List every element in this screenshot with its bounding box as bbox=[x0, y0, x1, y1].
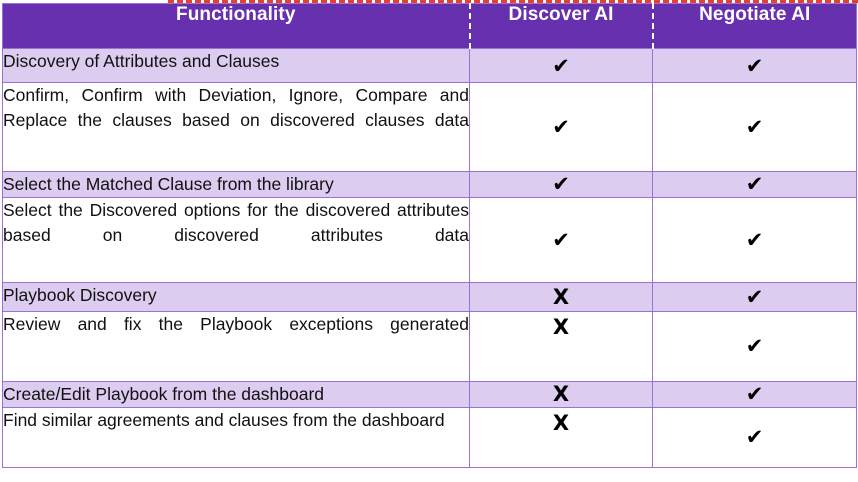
cell-negotiate-ai-mark: ✔ bbox=[653, 172, 857, 198]
table-row: Create/Edit Playbook from the dashboard … bbox=[3, 381, 857, 407]
cell-negotiate-ai-mark: ✔ bbox=[653, 381, 857, 407]
column-header-negotiate-ai: Negotiate AI bbox=[653, 4, 857, 49]
cell-functionality: Select the Discovered options for the di… bbox=[3, 197, 470, 282]
cell-functionality: Discovery of Attributes and Clauses bbox=[3, 49, 470, 83]
cell-negotiate-ai-mark: ✔ bbox=[653, 311, 857, 381]
table-row: Confirm, Confirm with Deviation, Ignore,… bbox=[3, 83, 857, 172]
cell-discover-ai-mark: X bbox=[470, 282, 653, 311]
screenshot-root: Functionality Discover AI Negotiate AI D… bbox=[0, 0, 858, 482]
cell-functionality: Find similar agreements and clauses from… bbox=[3, 407, 470, 467]
cell-negotiate-ai-mark: ✔ bbox=[653, 407, 857, 467]
table-row: Select the Matched Clause from the libra… bbox=[3, 172, 857, 198]
feature-comparison-table: Functionality Discover AI Negotiate AI D… bbox=[2, 3, 857, 468]
table-row: Select the Discovered options for the di… bbox=[3, 197, 857, 282]
table-row: Playbook Discovery X ✔ bbox=[3, 282, 857, 311]
column-header-discover-ai: Discover AI bbox=[470, 4, 653, 49]
cell-negotiate-ai-mark: ✔ bbox=[653, 83, 857, 172]
cell-functionality: Create/Edit Playbook from the dashboard bbox=[3, 381, 470, 407]
cell-discover-ai-mark: ✔ bbox=[470, 172, 653, 198]
cell-negotiate-ai-mark: ✔ bbox=[653, 282, 857, 311]
table-row: Discovery of Attributes and Clauses ✔ ✔ bbox=[3, 49, 857, 83]
column-header-functionality: Functionality bbox=[3, 4, 470, 49]
cell-discover-ai-mark: ✔ bbox=[470, 197, 653, 282]
cell-functionality: Confirm, Confirm with Deviation, Ignore,… bbox=[3, 83, 470, 172]
table-body: Discovery of Attributes and Clauses ✔ ✔ … bbox=[3, 49, 857, 468]
cell-discover-ai-mark: X bbox=[470, 311, 653, 381]
selection-marquee-dashed-line bbox=[168, 0, 858, 3]
cell-functionality: Playbook Discovery bbox=[3, 282, 470, 311]
table-row: Review and fix the Playbook exceptions g… bbox=[3, 311, 857, 381]
cell-functionality: Review and fix the Playbook exceptions g… bbox=[3, 311, 470, 381]
cell-discover-ai-mark: ✔ bbox=[470, 83, 653, 172]
table-header: Functionality Discover AI Negotiate AI bbox=[3, 4, 857, 49]
cell-negotiate-ai-mark: ✔ bbox=[653, 49, 857, 83]
cell-functionality: Select the Matched Clause from the libra… bbox=[3, 172, 470, 198]
cell-discover-ai-mark: X bbox=[470, 407, 653, 467]
table-row: Find similar agreements and clauses from… bbox=[3, 407, 857, 467]
cell-negotiate-ai-mark: ✔ bbox=[653, 197, 857, 282]
cell-discover-ai-mark: X bbox=[470, 381, 653, 407]
cell-discover-ai-mark: ✔ bbox=[470, 49, 653, 83]
table-header-row: Functionality Discover AI Negotiate AI bbox=[3, 4, 857, 49]
